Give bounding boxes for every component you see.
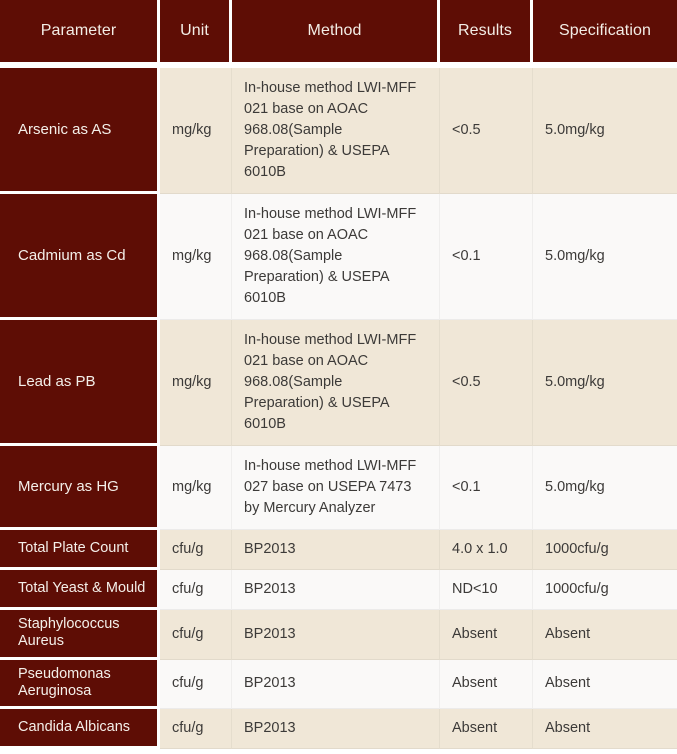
table-row: Total Yeast & Mouldcfu/gBP2013ND<101000c… <box>0 570 677 610</box>
table-row: Pseudomonas Aeruginosacfu/gBP2013AbsentA… <box>0 660 677 709</box>
column-header-method: Method <box>232 0 440 68</box>
cell-results: <0.5 <box>440 320 533 446</box>
cell-method: BP2013 <box>232 709 440 749</box>
cell-method: In-house method LWI-MFF 021 base on AOAC… <box>232 194 440 320</box>
column-header-parameter: Parameter <box>0 0 160 68</box>
cell-specification: 5.0mg/kg <box>533 446 677 530</box>
cell-method: BP2013 <box>232 610 440 659</box>
cell-results: Absent <box>440 610 533 659</box>
cell-specification: 5.0mg/kg <box>533 320 677 446</box>
cell-unit: cfu/g <box>160 709 232 749</box>
table-row: Staphylococcus Aureuscfu/gBP2013AbsentAb… <box>0 610 677 659</box>
cell-unit: mg/kg <box>160 68 232 194</box>
cell-method: In-house method LWI-MFF 027 base on USEP… <box>232 446 440 530</box>
table-row: Arsenic as ASmg/kgIn-house method LWI-MF… <box>0 68 677 194</box>
cell-parameter: Arsenic as AS <box>0 68 160 194</box>
cell-method: In-house method LWI-MFF 021 base on AOAC… <box>232 68 440 194</box>
column-header-results: Results <box>440 0 533 68</box>
table-body: Arsenic as ASmg/kgIn-house method LWI-MF… <box>0 68 677 749</box>
cell-specification: 5.0mg/kg <box>533 68 677 194</box>
table-row: Total Plate Countcfu/gBP20134.0 x 1.0100… <box>0 530 677 570</box>
table-row: Candida Albicanscfu/gBP2013AbsentAbsent <box>0 709 677 749</box>
cell-parameter: Cadmium as Cd <box>0 194 160 320</box>
cell-unit: cfu/g <box>160 570 232 610</box>
cell-specification: Absent <box>533 709 677 749</box>
cell-unit: mg/kg <box>160 446 232 530</box>
cell-unit: cfu/g <box>160 530 232 570</box>
cell-parameter: Pseudomonas Aeruginosa <box>0 660 160 709</box>
cell-parameter: Mercury as HG <box>0 446 160 530</box>
cell-results: <0.5 <box>440 68 533 194</box>
cell-specification: Absent <box>533 660 677 709</box>
table-header: Parameter Unit Method Results Specificat… <box>0 0 677 68</box>
cell-parameter: Lead as PB <box>0 320 160 446</box>
table-row: Cadmium as Cdmg/kgIn-house method LWI-MF… <box>0 194 677 320</box>
column-header-specification: Specification <box>533 0 677 68</box>
cell-specification: 1000cfu/g <box>533 570 677 610</box>
cell-method: BP2013 <box>232 570 440 610</box>
cell-parameter: Total Yeast & Mould <box>0 570 160 610</box>
cell-unit: mg/kg <box>160 320 232 446</box>
cell-unit: cfu/g <box>160 610 232 659</box>
table-row: Mercury as HGmg/kgIn-house method LWI-MF… <box>0 446 677 530</box>
cell-specification: 5.0mg/kg <box>533 194 677 320</box>
table-row: Lead as PBmg/kgIn-house method LWI-MFF 0… <box>0 320 677 446</box>
cell-parameter: Candida Albicans <box>0 709 160 749</box>
table-header-row: Parameter Unit Method Results Specificat… <box>0 0 677 68</box>
cell-specification: 1000cfu/g <box>533 530 677 570</box>
cell-unit: cfu/g <box>160 660 232 709</box>
cell-method: BP2013 <box>232 530 440 570</box>
cell-results: <0.1 <box>440 194 533 320</box>
cell-results: <0.1 <box>440 446 533 530</box>
cell-results: Absent <box>440 660 533 709</box>
cell-results: 4.0 x 1.0 <box>440 530 533 570</box>
cell-method: In-house method LWI-MFF 021 base on AOAC… <box>232 320 440 446</box>
cell-results: Absent <box>440 709 533 749</box>
column-header-unit: Unit <box>160 0 232 68</box>
cell-unit: mg/kg <box>160 194 232 320</box>
cell-parameter: Staphylococcus Aureus <box>0 610 160 659</box>
cell-specification: Absent <box>533 610 677 659</box>
cell-parameter: Total Plate Count <box>0 530 160 570</box>
lab-results-table: Parameter Unit Method Results Specificat… <box>0 0 677 749</box>
cell-method: BP2013 <box>232 660 440 709</box>
cell-results: ND<10 <box>440 570 533 610</box>
